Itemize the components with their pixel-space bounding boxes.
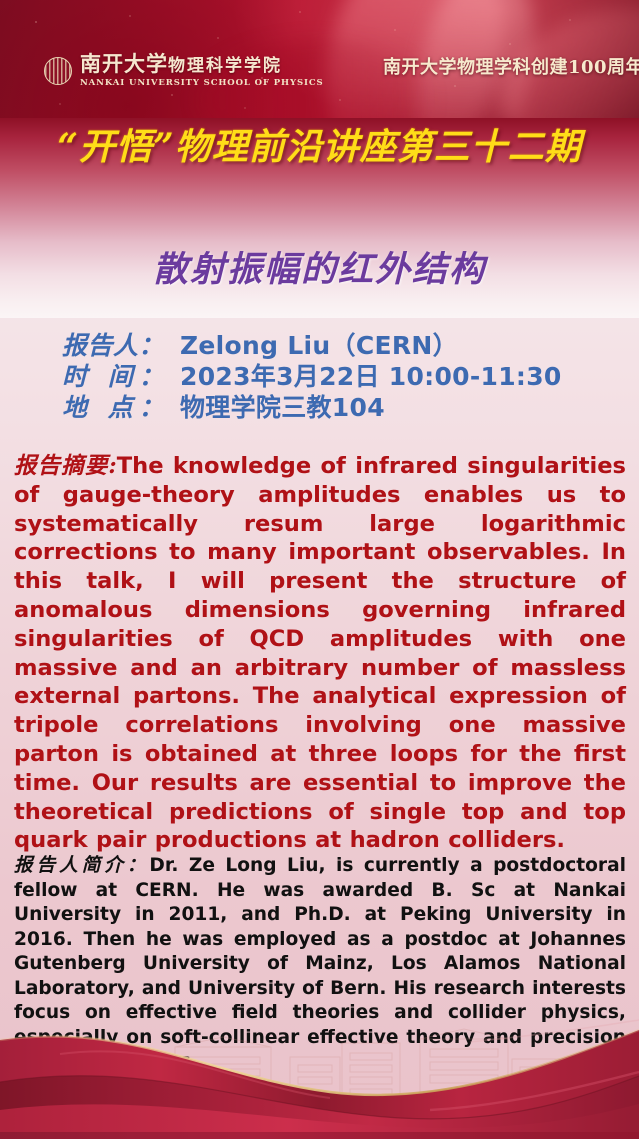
info-row-speaker: 报告人： Zelong Liu（CERN） xyxy=(62,330,622,361)
biography-label: 报告人简介： xyxy=(14,855,149,876)
info-row-time: 时 间： 2023年3月22日 10:00-11:30 xyxy=(62,361,622,392)
abstract-body: The knowledge of infrared singularities … xyxy=(14,453,626,853)
biography-section: 报告人简介：Dr. Ze Long Liu, is currently a po… xyxy=(14,854,626,1075)
info-value-time: 2023年3月22日 10:00-11:30 xyxy=(180,361,562,392)
poster-root: 南开大学物理科学学院 NANKAI UNIVERSITY SCHOOL OF P… xyxy=(0,0,639,1139)
abstract-label: 报告摘要: xyxy=(14,453,117,479)
university-logo: 南开大学物理科学学院 NANKAI UNIVERSITY SCHOOL OF P… xyxy=(44,53,324,88)
anniversary-text: 南开大学物理学科创建100周年 xyxy=(383,58,639,78)
bottom-accent-bar xyxy=(0,1132,639,1139)
info-value-speaker: Zelong Liu（CERN） xyxy=(180,330,458,361)
info-row-location: 地 点： 物理学院三教104 xyxy=(62,392,622,423)
lecture-info-block: 报告人： Zelong Liu（CERN） 时 间： 2023年3月22日 10… xyxy=(62,330,622,423)
logo-department-name: 物理科学学院 xyxy=(168,56,282,76)
abstract-section: 报告摘要:The knowledge of infrared singulari… xyxy=(14,452,626,855)
logo-english-name: NANKAI UNIVERSITY SCHOOL OF PHYSICS xyxy=(80,78,324,88)
biography-body: Dr. Ze Long Liu, is currently a postdoct… xyxy=(14,855,626,1072)
info-label-speaker: 报告人： xyxy=(62,330,180,361)
logo-chinese-line: 南开大学物理科学学院 xyxy=(80,53,324,77)
lecture-topic-title: 散射振幅的红外结构 xyxy=(0,248,639,292)
header-band: 南开大学物理科学学院 NANKAI UNIVERSITY SCHOOL OF P… xyxy=(0,0,639,118)
lecture-series-title: “开悟”物理前沿讲座第三十二期 xyxy=(0,125,639,169)
info-value-location: 物理学院三教104 xyxy=(180,392,385,423)
nankai-seal-icon xyxy=(44,57,72,85)
info-label-location: 地 点： xyxy=(62,392,180,423)
info-label-time: 时 间： xyxy=(62,361,180,392)
logo-text-group: 南开大学物理科学学院 NANKAI UNIVERSITY SCHOOL OF P… xyxy=(80,53,324,88)
logo-university-name: 南开大学 xyxy=(80,51,168,76)
